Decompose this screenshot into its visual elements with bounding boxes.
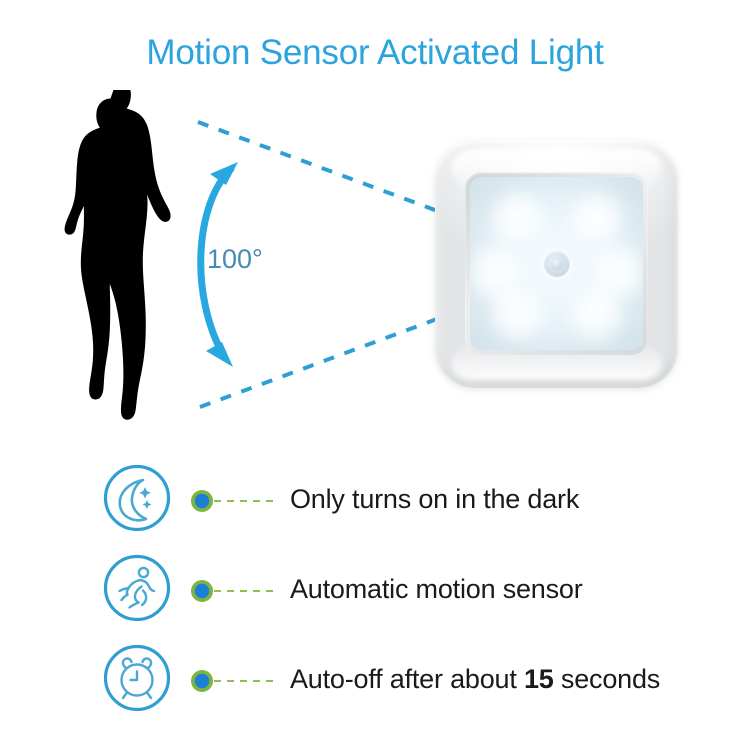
alarm-clock-icon [102,643,172,713]
bullet-connector-line [214,500,276,502]
night-light-product [435,140,678,388]
walking-person-silhouette [65,90,171,420]
cone-dash-lower [200,316,445,407]
feature-text: Automatic motion sensor [290,574,583,605]
feature-text: Auto-off after about 15 seconds [290,664,660,695]
feature-row-dark: Only turns on in the dark [0,455,750,545]
bullet-connector-line [214,680,276,682]
bullet-connector-line [214,590,276,592]
product-infographic: Motion Sensor Activated Light 100° [0,0,750,750]
angle-label: 100° [207,244,263,274]
bullet-dot [190,579,214,603]
illustration-stage: 100° [0,90,750,435]
feature-row-motion: Automatic motion sensor [0,545,750,635]
running-person-icon [102,553,172,623]
page-title: Motion Sensor Activated Light [0,33,750,73]
feature-list: Only turns on in the dark Automatic moti… [0,455,750,725]
product-light-panel [470,177,643,350]
moon-stars-icon [102,463,172,533]
feature-text: Only turns on in the dark [290,484,579,515]
feature-row-autooff: Auto-off after about 15 seconds [0,635,750,725]
bullet-dot [190,669,214,693]
pir-sensor-lens [551,258,563,270]
bullet-dot [190,489,214,513]
